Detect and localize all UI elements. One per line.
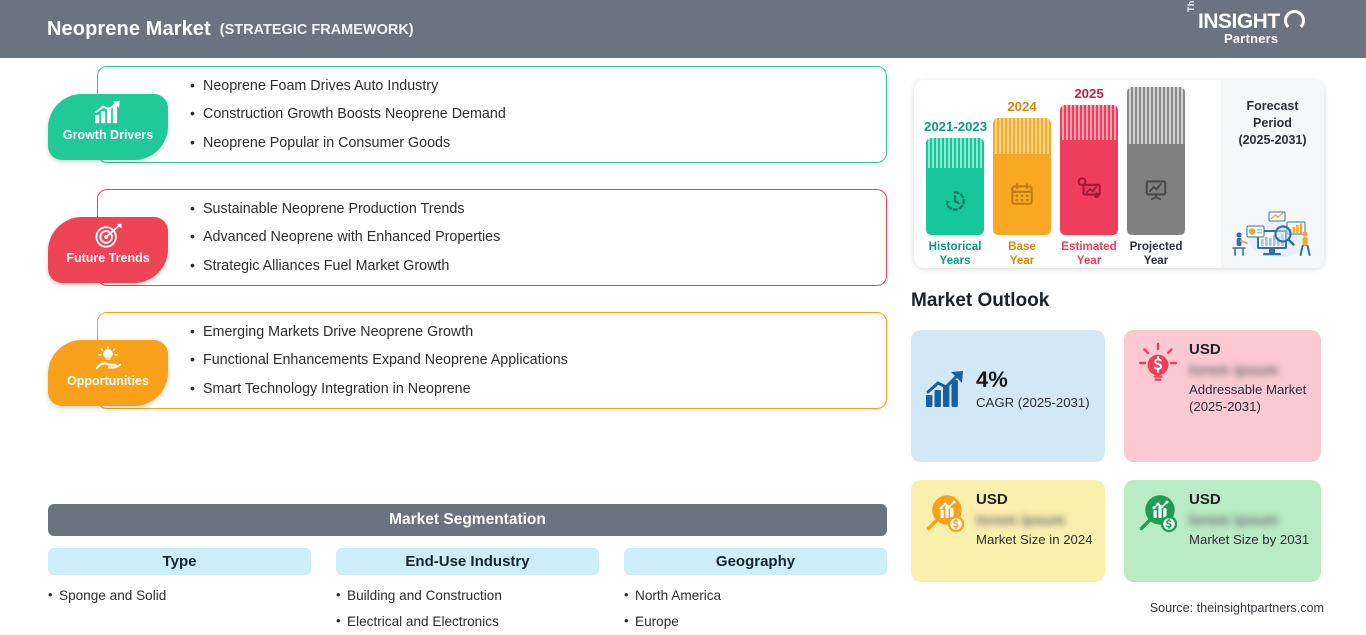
card-value-blurred: lorem ipsum [976,513,1095,528]
list-item: Electrical and Electronics [336,615,599,629]
card-note: Market Size in 2024 [976,532,1095,549]
forecast-line-3: (2025-2031) [1238,132,1306,149]
source-attribution: Source: theinsightpartners.com [1150,601,1324,615]
forecast-line-2: Period [1253,115,1292,132]
timeline-bar-historical: 2021-2023 Historical Ye [924,120,986,268]
segmentation-header-type: Type [48,548,311,575]
list-item: Neoprene Popular in Consumer Goods [190,136,886,150]
bar-year-label: 2031 [1125,80,1187,82]
bar-chart-arrow-icon [93,100,123,126]
bullet-list-future-trends: Sustainable Neoprene Production Trends A… [190,202,886,273]
card-value-blurred: lorem ipsum [1189,363,1311,378]
bullet-list-growth-drivers: Neoprene Foam Drives Auto Industry Const… [190,79,886,150]
cagr-note: CAGR (2025-2031) [976,395,1095,412]
badge-growth-drivers[interactable]: Growth Drivers [48,94,168,160]
bar-shape [1127,87,1185,235]
list-item: Construction Growth Boosts Neoprene Dema… [190,107,886,121]
badge-future-trends[interactable]: Future Trends [48,217,168,283]
list-item: Advanced Neoprene with Enhanced Properti… [190,230,886,244]
card-market-size-2031: USD lorem ipsum Market Size by 2031 [1124,480,1321,582]
bar-label-line2: Years [940,254,971,267]
card-currency: USD [1189,342,1311,357]
list-item: Neoprene Foam Drives Auto Industry [190,79,886,93]
bar-year-label: 2024 [991,100,1053,113]
bar-year-label: 2021-2023 [924,120,986,133]
pillar-box-opportunities: Emerging Markets Drive Neoprene Growth F… [97,312,887,409]
segmentation-header-geography: Geography [624,548,887,575]
bar-shape [993,118,1051,235]
calendar-icon [1009,181,1035,207]
bar-category-label: Estimated Year [1058,240,1120,268]
segmentation-list-end-use-industry: Building and Construction Electrical and… [336,589,599,635]
badge-label: Future Trends [66,252,149,265]
segmentation-columns: Type Sponge and Solid End-Use Industry B… [48,548,887,635]
list-item: Sustainable Neoprene Production Trends [190,202,886,216]
magnifier-bar-chart-dollar-icon [923,492,967,536]
list-item: Smart Technology Integration in Neoprene [190,382,886,396]
page-subtitle: (STRATEGIC FRAMEWORK) [220,22,414,38]
bar-label-line1: Estimated [1061,240,1116,253]
market-segmentation-header: Market Segmentation [48,504,887,536]
page-header: Neoprene Market (STRATEGIC FRAMEWORK) Th… [0,0,1366,58]
estimate-gear-chart-icon [1076,174,1102,200]
bar-label-line2: Year [1077,254,1102,267]
badge-label: Growth Drivers [63,129,153,142]
study-period-timeline-card: 2021-2023 Historical Ye [914,80,1324,268]
bar-stripe-top [926,138,984,168]
list-item: Emerging Markets Drive Neoprene Growth [190,325,886,339]
left-column: Neoprene Foam Drives Auto Industry Const… [0,58,900,635]
data-analysis-illustration [1227,204,1319,260]
list-item: Building and Construction [336,589,599,603]
bar-label-line1: Historical [929,240,982,253]
insight-partners-logo: The INSIGHT Partners [1186,9,1306,51]
bar-category-label: Projected Year [1125,240,1187,268]
segmentation-column-geography: Geography North America Europe Asia-Paci… [624,548,887,635]
bar-category-label: Base Year [991,240,1053,268]
bar-solid-body [1127,144,1185,235]
card-currency: USD [1189,492,1311,507]
bar-stripe-top [993,118,1051,154]
bar-label-line1: Base [1008,240,1036,253]
page-title: Neoprene Market [47,18,211,41]
bullet-list-opportunities: Emerging Markets Drive Neoprene Growth F… [190,325,886,396]
market-outlook-title: Market Outlook [911,290,1049,312]
right-column: 2021-2023 Historical Ye [900,58,1366,635]
growth-bar-chart-icon [923,368,967,412]
bar-solid-body [926,168,984,235]
market-segmentation-title: Market Segmentation [389,511,546,529]
bar-label-line2: Year [1144,254,1169,267]
bar-shape [1060,105,1118,235]
bar-solid-body [993,154,1051,235]
magnifier-bar-chart-dollar-icon [1136,492,1180,536]
bar-solid-body [1060,140,1118,235]
bar-stripe-top [1060,105,1118,140]
card-note: Addressable Market (2025-2031) [1189,382,1311,415]
timeline-bar-estimated: 2025 Estimated [1058,87,1120,268]
cagr-value: 4% [976,369,1095,391]
bar-label-line1: Projected [1130,240,1183,253]
hand-lightbulb-icon [93,346,123,372]
card-note: Market Size by 2031 [1189,532,1311,549]
timeline-bar-projected: 2031 Projected Year [1125,80,1187,268]
bar-year-label: 2025 [1058,87,1120,100]
segmentation-column-end-use-industry: End-Use Industry Building and Constructi… [336,548,599,635]
bar-category-label: Historical Years [924,240,986,268]
segmentation-header-end-use-industry: End-Use Industry [336,548,599,575]
badge-opportunities[interactable]: Opportunities [48,340,168,406]
segmentation-column-type: Type Sponge and Solid [48,548,311,635]
list-item: Europe [624,615,887,629]
projection-screen-icon [1143,176,1169,202]
logo-partners-text: Partners [1224,31,1278,46]
lightbulb-dollar-icon [1136,342,1180,386]
timeline-bar-base: 2024 [991,100,1053,268]
target-dart-icon [93,223,123,249]
segmentation-list-geography: North America Europe Asia-Pacific [624,589,887,635]
list-item: Functional Enhancements Expand Neoprene … [190,353,886,367]
forecast-line-1: Forecast [1246,98,1298,115]
bar-label-line2: Year [1010,254,1035,267]
forecast-period-panel: Forecast Period (2025-2031) [1221,80,1324,268]
card-market-size-2024: USD lorem ipsum Market Size in 2024 [911,480,1105,582]
segmentation-list-type: Sponge and Solid [48,589,311,603]
card-addressable-market: USD lorem ipsum Addressable Market (2025… [1124,330,1321,462]
pillar-box-future-trends: Sustainable Neoprene Production Trends A… [97,189,887,286]
bar-shape [926,138,984,235]
list-item: North America [624,589,887,603]
pillar-box-growth-drivers: Neoprene Foam Drives Auto Industry Const… [97,66,887,163]
card-cagr: 4% CAGR (2025-2031) [911,330,1105,462]
timeline-bars: 2021-2023 Historical Ye [924,80,1219,268]
list-item: Strategic Alliances Fuel Market Growth [190,259,886,273]
clock-history-icon [942,188,968,214]
list-item: Sponge and Solid [48,589,311,603]
infographic-page: Neoprene Market (STRATEGIC FRAMEWORK) Th… [0,0,1366,635]
logo-arc-icon [1284,10,1305,31]
bar-stripe-top [1127,87,1185,144]
badge-label: Opportunities [67,375,149,388]
logo-the-text: The [1186,0,1196,12]
card-currency: USD [976,492,1095,507]
card-value-blurred: lorem ipsum [1189,513,1311,528]
